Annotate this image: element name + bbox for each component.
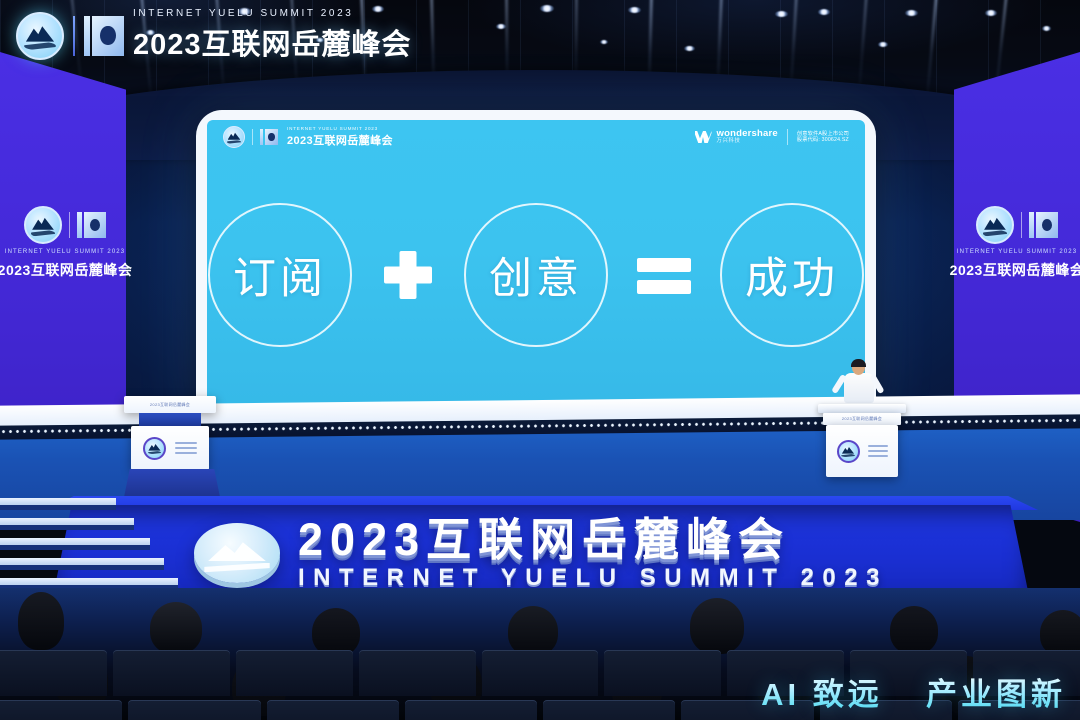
- mountain-cloud-logo-icon: [194, 523, 280, 583]
- wondershare-w-icon: [695, 131, 712, 143]
- audience-seat: [543, 700, 675, 720]
- mountain-cloud-logo-icon: [837, 440, 860, 463]
- podium-left-body: [131, 426, 209, 470]
- left-wall-branding: INTERNET YUELU SUMMIT 2023 2023互联网岳麓峰会: [6, 206, 124, 280]
- overlay-title-en: INTERNET YUELU SUMMIT 2023: [133, 8, 412, 19]
- left-wall-title-en: INTERNET YUELU SUMMIT 2023: [5, 249, 125, 255]
- plaque-line: [868, 445, 888, 447]
- overlay-bottom-right-slogan: AI 致远 产业图新: [761, 669, 1066, 714]
- stage-title-en: INTERNET YUELU SUMMIT 2023: [298, 566, 888, 590]
- podium-right: 2023互联网岳麓峰会: [818, 404, 906, 504]
- podium-right-top: [818, 404, 906, 413]
- screen-title-cn: 2023互联网岳麓峰会: [287, 132, 393, 148]
- podium-right-nameplate: 2023互联网岳麓峰会: [823, 413, 901, 425]
- logo-divider: [252, 129, 253, 145]
- mountain-cloud-logo-icon: [16, 12, 64, 60]
- mountain-cloud-logo-icon: [223, 126, 245, 148]
- tenth-anniversary-icon: [84, 16, 124, 56]
- logo-divider: [69, 212, 70, 238]
- plaque-line: [175, 447, 197, 449]
- podium-left-plaque-text: 2023互联网岳麓峰会: [150, 402, 190, 408]
- plaque-line: [175, 452, 197, 454]
- plus-operator-icon: [378, 245, 438, 305]
- spotlight: [905, 10, 918, 16]
- audience-seat: [0, 650, 107, 696]
- right-wall-logos: [976, 206, 1058, 244]
- screen-header-bar: INTERNET YUELU SUMMIT 2023 2023互联网岳麓峰会 w…: [207, 120, 865, 154]
- plaque-line: [868, 455, 888, 457]
- stage-branding: 2023互联网岳麓峰会 INTERNET YUELU SUMMIT 2023: [52, 505, 1030, 601]
- sponsor-name-cn: 万兴科技: [717, 139, 778, 145]
- overlay-title-block: INTERNET YUELU SUMMIT 2023 2023互联网岳麓峰会: [133, 8, 412, 63]
- equation-term-creativity: 创意: [464, 203, 608, 347]
- mountain-cloud-logo-icon: [143, 437, 166, 460]
- stage-title-block: 2023互联网岳麓峰会 INTERNET YUELU SUMMIT 2023: [298, 517, 888, 590]
- audience-seat: [128, 700, 260, 720]
- right-wall-title-en: INTERNET YUELU SUMMIT 2023: [957, 249, 1077, 255]
- right-wall-branding: INTERNET YUELU SUMMIT 2023 2023互联网岳麓峰会: [958, 206, 1076, 280]
- mountain-cloud-logo-icon: [976, 206, 1014, 244]
- logo-divider: [73, 16, 75, 56]
- left-wall-logos: [24, 206, 106, 244]
- audience-seat: [482, 650, 599, 696]
- spotlight: [628, 7, 641, 13]
- screen-title-en: INTERNET YUELU SUMMIT 2023: [287, 126, 393, 131]
- audience-seat: [267, 700, 399, 720]
- audience-seat: [405, 700, 537, 720]
- slide-equation: 订阅 创意 成功: [207, 154, 865, 410]
- mountain-cloud-logo-icon: [24, 206, 62, 244]
- spotlight: [985, 10, 997, 16]
- spotlight: [818, 9, 830, 15]
- tenth-anniversary-icon: [1029, 212, 1058, 238]
- equals-operator-icon: [634, 245, 694, 305]
- sponsor-listing-note: 创意软件A股上市公司 股票代码: 300624.SZ: [797, 131, 849, 144]
- podium-left-column: [139, 413, 201, 426]
- screen-event-branding: INTERNET YUELU SUMMIT 2023 2023互联网岳麓峰会: [223, 126, 393, 148]
- tenth-anniversary-icon: [260, 129, 278, 145]
- spotlight: [878, 42, 888, 47]
- podium-right-body: [826, 425, 898, 477]
- equation-term-success: 成功: [720, 203, 864, 347]
- stage-title-cn: 2023互联网岳麓峰会: [298, 517, 888, 562]
- spotlight: [775, 11, 788, 17]
- audience-seat: [0, 700, 122, 720]
- left-wall-title-cn: 2023互联网岳麓峰会: [0, 260, 132, 280]
- audience-seat: [113, 650, 230, 696]
- stage-apron: 2023互联网岳麓峰会 INTERNET YUELU SUMMIT 2023: [52, 505, 1030, 601]
- overlay-title-cn: 2023互联网岳麓峰会: [133, 21, 412, 63]
- podium-left: 2023互联网岳麓峰会: [124, 396, 216, 496]
- audience-seat: [236, 650, 353, 696]
- right-wall-title-cn: 2023互联网岳麓峰会: [950, 260, 1080, 280]
- sponsor-divider: [787, 129, 788, 145]
- spotlight: [684, 46, 695, 51]
- plaque-line: [175, 442, 197, 444]
- speaker-hair: [851, 359, 866, 367]
- main-led-screen: INTERNET YUELU SUMMIT 2023 2023互联网岳麓峰会 w…: [196, 110, 876, 420]
- audience-seat: [604, 650, 721, 696]
- equation-term-subscribe: 订阅: [208, 203, 352, 347]
- wondershare-logo-icon: wondershare 万兴科技: [695, 129, 778, 145]
- conference-photo: INTERNET YUELU SUMMIT 2023 2023互联网岳麓峰会 I…: [0, 0, 1080, 720]
- slogan-part-2: 产业图新: [926, 677, 1066, 712]
- sponsor-note-line2: 股票代码: 300624.SZ: [797, 137, 849, 144]
- spotlight: [1042, 26, 1051, 31]
- overlay-top-left-branding: INTERNET YUELU SUMMIT 2023 2023互联网岳麓峰会: [16, 8, 412, 63]
- podium-left-nameplate: 2023互联网岳麓峰会: [124, 396, 216, 413]
- spotlight: [600, 40, 608, 44]
- audience-seat: [359, 650, 476, 696]
- plaque-line: [868, 450, 888, 452]
- screen-surface: INTERNET YUELU SUMMIT 2023 2023互联网岳麓峰会 w…: [207, 120, 865, 410]
- logo-divider: [1021, 212, 1022, 238]
- sponsor-block: wondershare 万兴科技 创意软件A股上市公司 股票代码: 300624…: [695, 129, 850, 145]
- spotlight: [540, 5, 554, 12]
- podium-right-plaque-text: 2023互联网岳麓峰会: [842, 416, 882, 422]
- slogan-part-1: AI 致远: [761, 677, 883, 712]
- podium-left-base: [124, 469, 220, 497]
- tenth-anniversary-icon: [77, 212, 106, 238]
- spotlight: [496, 24, 506, 29]
